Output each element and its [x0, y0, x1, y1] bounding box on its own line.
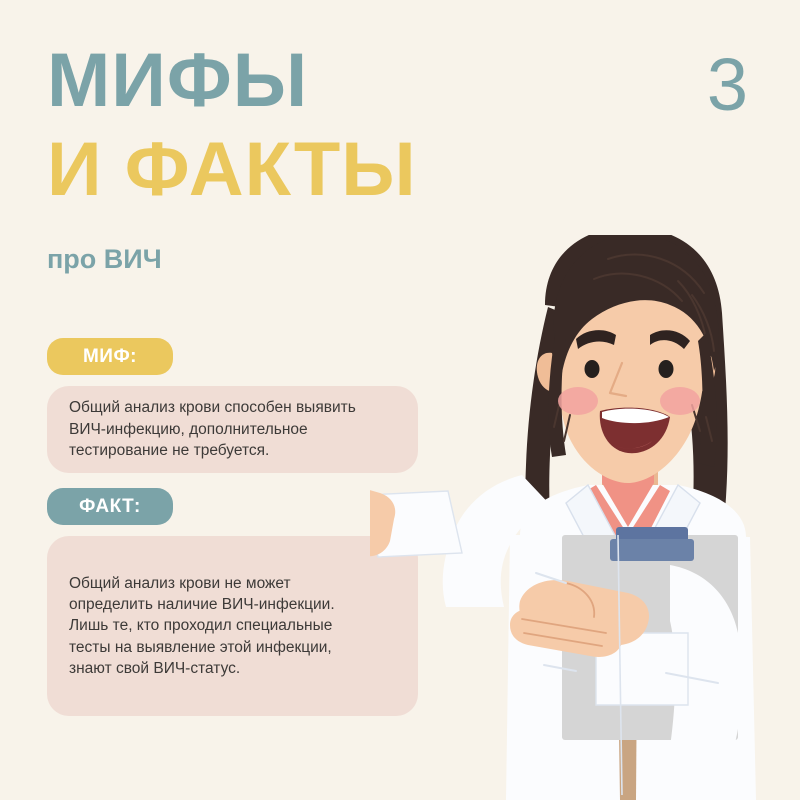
eye-left: [585, 360, 600, 378]
page-title-line-1: МИФЫ: [47, 45, 308, 117]
fact-body-text: Общий анализ крови не может определить н…: [69, 573, 335, 680]
fact-badge-label: ФАКТ:: [79, 496, 141, 518]
eye-right: [659, 360, 674, 378]
page-number: 3: [707, 48, 748, 122]
clipboard-clip: [610, 539, 694, 561]
page-title-line-2: И ФАКТЫ: [47, 134, 417, 206]
myth-body-text: Общий анализ крови способен выявить ВИЧ-…: [69, 397, 356, 461]
myth-badge: МИФ:: [47, 338, 173, 375]
cheek-right: [660, 387, 700, 415]
fact-card: Общий анализ крови не может определить н…: [47, 536, 418, 716]
doctor-illustration: [370, 235, 800, 800]
poster-canvas: МИФЫ И ФАКТЫ про ВИЧ 3 МИФ: Общий анализ…: [0, 0, 800, 800]
myth-card: Общий анализ крови способен выявить ВИЧ-…: [47, 386, 418, 473]
page-subtitle: про ВИЧ: [47, 244, 162, 275]
myth-badge-label: МИФ:: [83, 346, 137, 368]
cheek-left: [558, 387, 598, 415]
fact-badge: ФАКТ:: [47, 488, 173, 525]
